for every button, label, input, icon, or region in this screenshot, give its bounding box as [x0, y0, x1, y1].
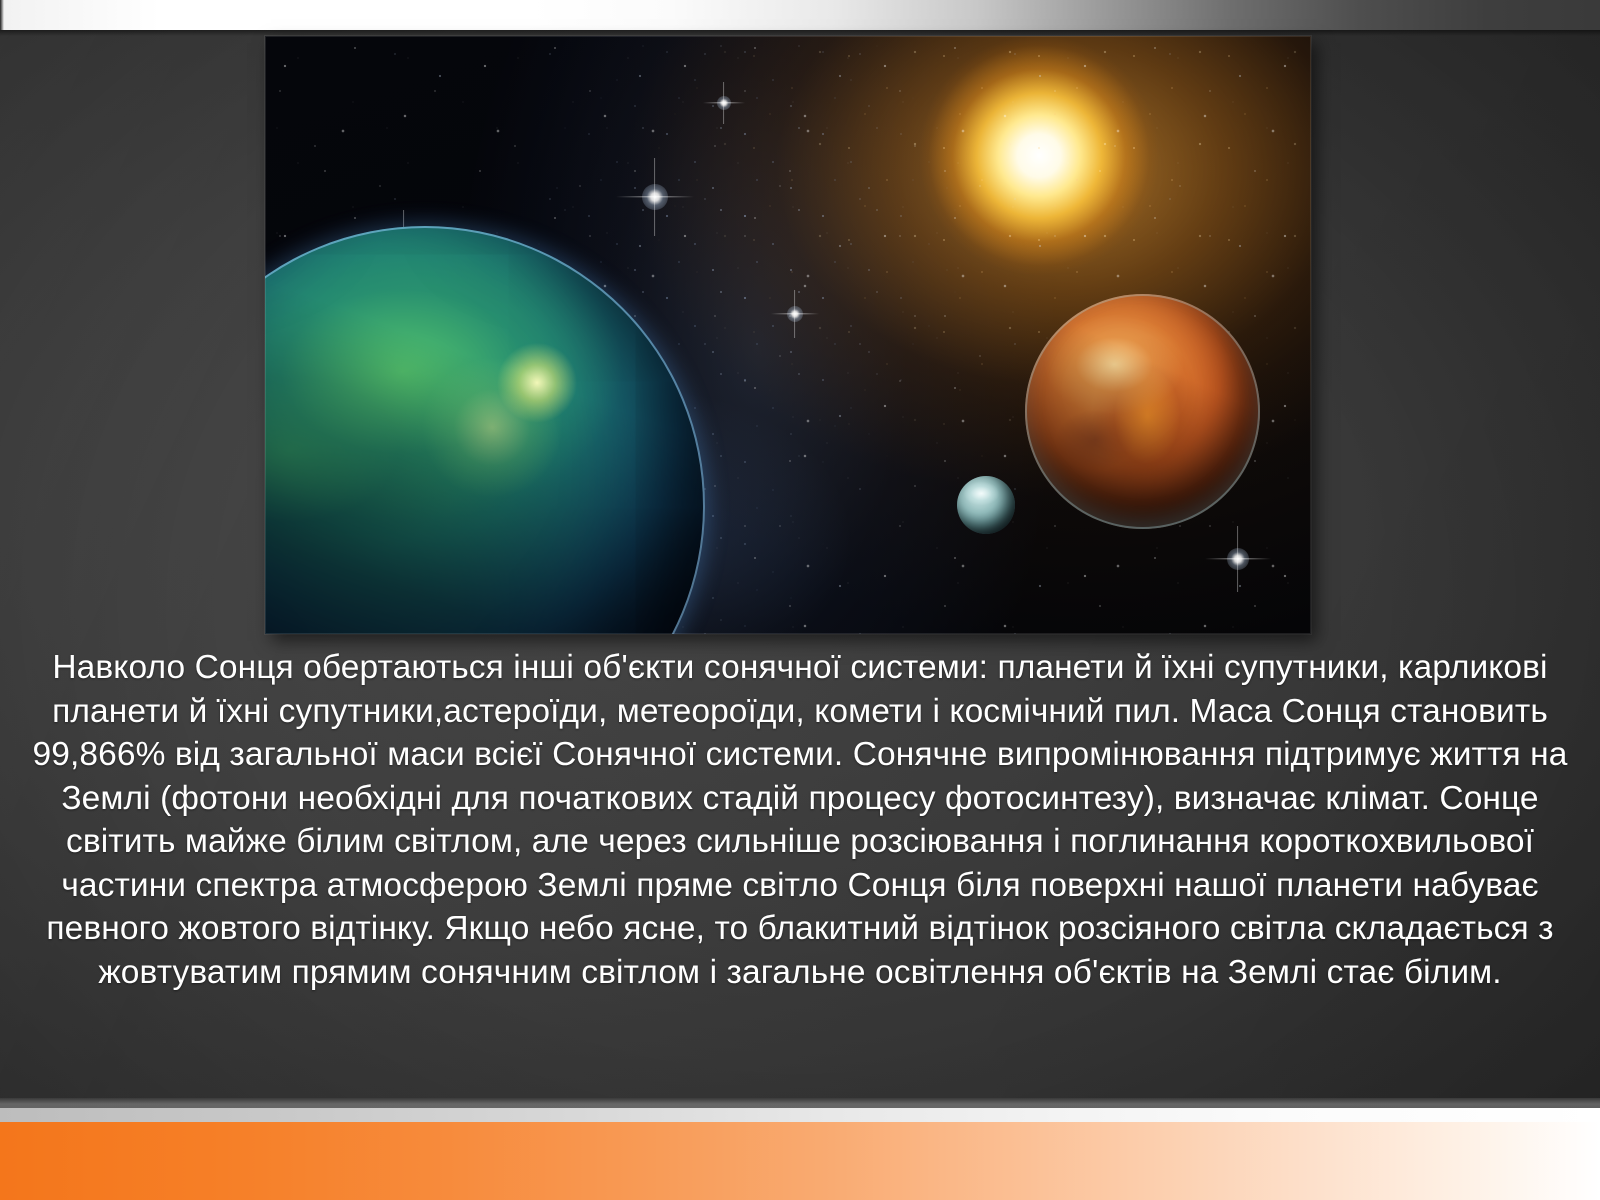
space-image — [265, 36, 1311, 634]
bottom-gradient-band — [0, 1122, 1600, 1200]
space-backdrop — [265, 36, 1311, 634]
body-paragraph: Навколо Сонця обертаються інші об'єкти с… — [0, 646, 1600, 994]
top-gradient-band — [0, 0, 1600, 30]
moon — [957, 476, 1015, 534]
presentation-slide: Навколо Сонця обертаються інші об'єкти с… — [0, 0, 1600, 1200]
bottom-band-highlight — [0, 1108, 1600, 1122]
bottom-band-highlight-top — [0, 1098, 1600, 1108]
red-planet — [1025, 294, 1260, 529]
